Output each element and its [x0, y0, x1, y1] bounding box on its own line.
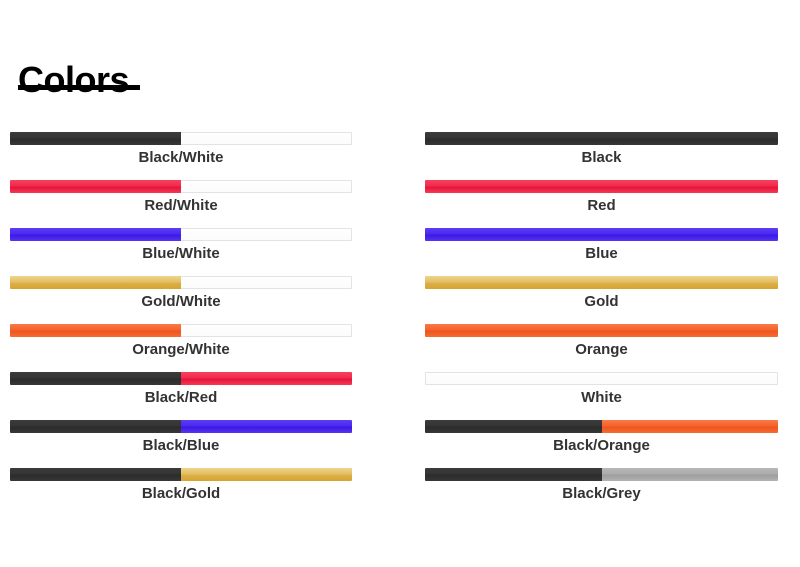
color-swatch-bar[interactable] — [10, 372, 352, 385]
color-swatch-bar[interactable] — [10, 228, 352, 241]
color-swatch-row[interactable]: Red — [425, 180, 778, 228]
color-swatch-row[interactable]: Black/White — [10, 132, 352, 180]
color-swatch-label: Red/White — [10, 197, 352, 215]
color-segment-white — [181, 324, 352, 337]
color-segment-white — [181, 132, 352, 145]
color-segment-black — [10, 420, 181, 433]
color-swatch-label: Red — [425, 197, 778, 215]
color-swatch-label: Black/White — [10, 149, 352, 167]
color-swatch-label: Black/Gold — [10, 485, 352, 503]
color-swatch-bar[interactable] — [425, 468, 778, 481]
color-swatch-bar[interactable] — [10, 468, 352, 481]
color-swatch-row[interactable]: Black — [425, 132, 778, 180]
color-swatch-row[interactable]: White — [425, 372, 778, 420]
color-segment-white — [181, 276, 352, 289]
color-swatch-row[interactable]: Black/Grey — [425, 468, 778, 516]
swatch-column-left: Black/WhiteRed/WhiteBlue/WhiteGold/White… — [10, 132, 352, 516]
color-segment-grey — [602, 468, 779, 481]
color-segment-black — [10, 468, 181, 481]
color-segment-black — [425, 468, 602, 481]
color-segment-blue — [181, 420, 352, 433]
color-segment-white — [181, 180, 352, 193]
color-swatch-label: Orange/White — [10, 341, 352, 359]
color-swatch-bar[interactable] — [10, 420, 352, 433]
color-swatch-bar[interactable] — [425, 180, 778, 193]
color-segment-red — [181, 372, 352, 385]
color-segment-white — [425, 372, 778, 385]
color-swatch-label: Blue — [425, 245, 778, 263]
swatch-column-right: BlackRedBlueGoldOrangeWhiteBlack/OrangeB… — [425, 132, 778, 516]
color-swatch-bar[interactable] — [10, 180, 352, 193]
color-swatch-row[interactable]: Black/Blue — [10, 420, 352, 468]
color-segment-blue — [425, 228, 778, 241]
color-swatch-row[interactable]: Black/Red — [10, 372, 352, 420]
color-swatch-label: Black/Grey — [425, 485, 778, 503]
color-swatch-bar[interactable] — [425, 276, 778, 289]
color-swatch-bar[interactable] — [10, 324, 352, 337]
color-segment-orange — [602, 420, 779, 433]
title-underline-rule — [18, 85, 140, 90]
color-swatch-label: Blue/White — [10, 245, 352, 263]
color-swatch-row[interactable]: Gold/White — [10, 276, 352, 324]
color-segment-black — [425, 420, 602, 433]
color-swatch-label: Black — [425, 149, 778, 167]
color-swatch-bar[interactable] — [10, 276, 352, 289]
color-swatch-row[interactable]: Blue/White — [10, 228, 352, 276]
color-swatch-label: Black/Orange — [425, 437, 778, 455]
color-swatch-row[interactable]: Gold — [425, 276, 778, 324]
color-segment-blue — [10, 228, 181, 241]
color-swatch-row[interactable]: Black/Orange — [425, 420, 778, 468]
color-swatch-row[interactable]: Blue — [425, 228, 778, 276]
color-swatch-bar[interactable] — [425, 324, 778, 337]
color-swatch-label: Gold — [425, 293, 778, 311]
color-segment-red — [10, 180, 181, 193]
color-swatch-bar[interactable] — [425, 228, 778, 241]
color-swatch-row[interactable]: Red/White — [10, 180, 352, 228]
color-segment-orange — [425, 324, 778, 337]
color-swatch-row[interactable]: Black/Gold — [10, 468, 352, 516]
color-swatch-bar[interactable] — [425, 420, 778, 433]
color-swatch-label: Orange — [425, 341, 778, 359]
color-segment-orange — [10, 324, 181, 337]
page-title: Colors — [18, 62, 129, 98]
color-swatch-label: Black/Red — [10, 389, 352, 407]
color-swatch-row[interactable]: Orange/White — [10, 324, 352, 372]
color-swatch-row[interactable]: Orange — [425, 324, 778, 372]
color-segment-black — [425, 132, 778, 145]
color-segment-red — [425, 180, 778, 193]
color-segment-gold — [181, 468, 352, 481]
color-swatch-label: Gold/White — [10, 293, 352, 311]
color-segment-black — [10, 372, 181, 385]
color-swatch-bar[interactable] — [425, 132, 778, 145]
color-segment-gold — [425, 276, 778, 289]
color-swatch-label: White — [425, 389, 778, 407]
color-swatch-label: Black/Blue — [10, 437, 352, 455]
color-swatch-bar[interactable] — [10, 132, 352, 145]
color-segment-black — [10, 132, 181, 145]
color-segment-white — [181, 228, 352, 241]
color-swatch-bar[interactable] — [425, 372, 778, 385]
color-segment-gold — [10, 276, 181, 289]
